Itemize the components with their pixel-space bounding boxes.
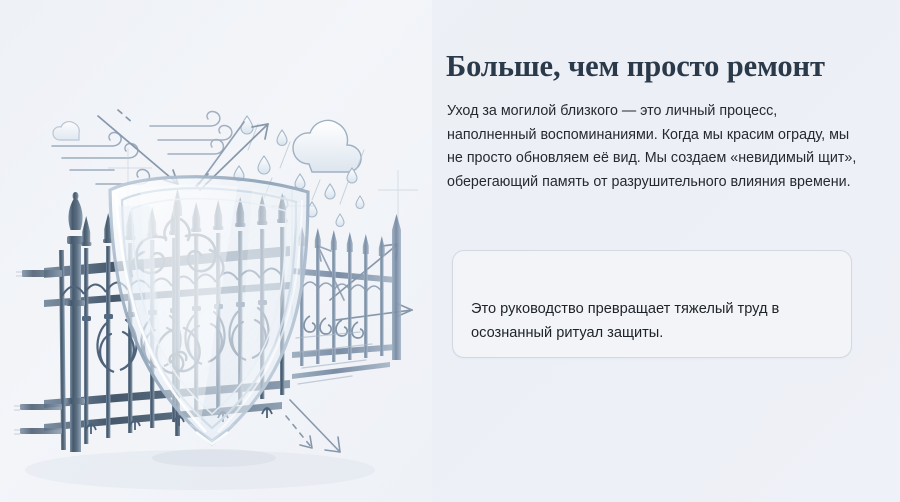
content-column: Больше, чем просто ремонт Уход за могило… bbox=[446, 0, 876, 502]
callout-box: Это руководство превращает тяжелый труд … bbox=[452, 250, 852, 358]
callout-text: Это руководство превращает тяжелый труд … bbox=[471, 297, 835, 345]
page-root: Больше, чем просто ремонт Уход за могило… bbox=[0, 0, 900, 502]
page-title: Больше, чем просто ремонт bbox=[446, 48, 866, 84]
illustration-canvas bbox=[0, 0, 432, 502]
body-paragraph: Уход за могилой близкого — это личный пр… bbox=[447, 100, 857, 194]
hero-illustration bbox=[0, 0, 432, 502]
